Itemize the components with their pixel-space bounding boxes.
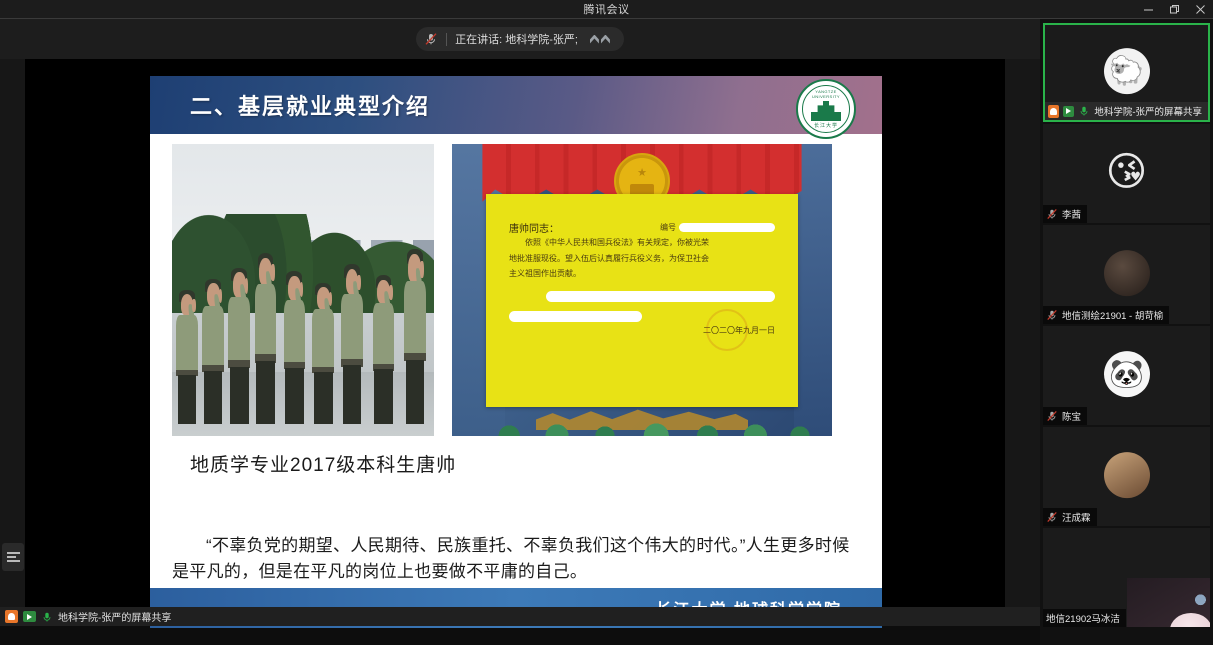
seal-arc-text: YANGTZE UNIVERSITY [803, 89, 849, 99]
participant-tile-6[interactable]: ♥ 地信21902马冰洁 [1043, 528, 1210, 627]
cert-redaction-number [679, 223, 775, 232]
restore-icon [1169, 4, 1180, 15]
app-title: 腾讯会议 [584, 1, 630, 17]
cert-paper: 唐帅同志： 编号 依照《中华人民共和国兵役法》有关规定，你被光荣 地批准服现役。… [486, 194, 798, 407]
mic-muted-icon [1046, 511, 1058, 523]
mic-muted-icon [1046, 309, 1058, 321]
tile-label: 汪成霖 [1043, 508, 1097, 526]
double-chevron-icon[interactable] [590, 35, 610, 44]
cert-body-line-2: 地批准服现役。望入伍后认真履行兵役义务，为保卫社会 [509, 251, 775, 266]
kiss-emoji-avatar: 😘 [1104, 149, 1150, 195]
cert-redaction-2 [509, 311, 642, 322]
host-icon [1048, 105, 1059, 118]
participant-tile-screen-share[interactable]: 🐑 地科学院-张严的屏幕共享 [1043, 23, 1210, 122]
cert-pine-motif [475, 389, 817, 436]
photo-avatar [1104, 250, 1150, 296]
restore-button[interactable] [1161, 0, 1187, 19]
cert-body-line-1: 依照《中华人民共和国兵役法》有关规定，你被光荣 [509, 235, 775, 250]
participant-name: 地信21902马冰洁 [1046, 611, 1120, 625]
sheep-avatar: 🐑 [1104, 48, 1150, 94]
slide-frame: 二、基层就业典型介绍 YANGTZE UNIVERSITY 长江大学 [25, 59, 1005, 611]
bottom-taskbar: 地科学院-张严的屏幕共享 [0, 607, 1040, 626]
slide-header: 二、基层就业典型介绍 YANGTZE UNIVERSITY 长江大学 [150, 76, 882, 134]
minimize-button[interactable] [1135, 0, 1161, 19]
enlistment-certificate-photo: ★ 唐帅同志： 编号 依照《中华人民共和国兵役法》有关规定，你被光荣 [452, 144, 832, 436]
tile-label: 地科学院-张严的屏幕共享 [1045, 102, 1208, 120]
mic-on-icon [1078, 105, 1090, 117]
slide-caption: 地质学专业2017级本科生唐帅 [172, 450, 860, 477]
cert-redaction-1 [546, 291, 775, 302]
university-seal-logo: YANGTZE UNIVERSITY 长江大学 [796, 79, 856, 139]
cert-body-line-3: 主义祖国作出贡献。 [509, 266, 775, 281]
pill-divider [446, 33, 447, 46]
participant-name: 陈宝 [1062, 409, 1081, 423]
cert-salutation: 唐帅同志： [509, 220, 559, 235]
cert-number-label: 编号 [660, 220, 676, 235]
photo-soldier-rank [172, 243, 434, 424]
panel-list-icon[interactable] [2, 543, 24, 571]
mic-muted-icon [1046, 208, 1058, 220]
window-title-bar: 腾讯会议 [0, 0, 1213, 19]
minimize-icon [1143, 4, 1154, 15]
participant-tile-2[interactable]: 😘 李茜 [1043, 124, 1210, 223]
stage-top-bar: 正在讲话: 地科学院-张严; [0, 19, 1040, 59]
shared-screen-stage: 正在讲话: 地科学院-张严; 二、基层就业典型介绍 YANGTZE UNIVER… [0, 19, 1040, 626]
taskbar-label: 地科学院-张严的屏幕共享 [58, 609, 171, 624]
participant-name: 李茜 [1062, 207, 1081, 221]
host-icon [5, 610, 18, 623]
participant-tile-5[interactable]: 汪成霖 [1043, 427, 1210, 526]
participant-name: 地信测绘21901 - 胡苛榆 [1062, 308, 1163, 322]
slide-title: 二、基层就业典型介绍 [190, 89, 430, 121]
window-controls [1135, 0, 1213, 19]
person-photo-avatar [1104, 452, 1150, 498]
screen-share-icon [1063, 106, 1074, 117]
participant-name: 地科学院-张严的屏幕共享 [1094, 104, 1202, 118]
mic-muted-icon [1046, 410, 1058, 422]
tile-label: 地信21902马冰洁 [1043, 609, 1126, 627]
bokeh-cat-avatar: ♥ [1127, 578, 1211, 628]
mic-muted-icon [424, 32, 438, 46]
tile-label: 李茜 [1043, 205, 1087, 223]
slide-body: ★ 唐帅同志： 编号 依照《中华人民共和国兵役法》有关规定，你被光荣 [150, 134, 882, 628]
participant-tile-4[interactable]: 🐼 陈宝 [1043, 326, 1210, 425]
tile-label: 地信测绘21901 - 胡苛榆 [1043, 306, 1169, 324]
presentation-slide: 二、基层就业典型介绍 YANGTZE UNIVERSITY 长江大学 [150, 76, 882, 628]
list-bars [7, 550, 20, 564]
speaking-label: 正在讲话: 地科学院-张严; [455, 31, 578, 47]
soldiers-saluting-photo [172, 144, 434, 436]
active-speaker-indicator[interactable]: 正在讲话: 地科学院-张严; [416, 27, 624, 51]
tile-label: 陈宝 [1043, 407, 1087, 425]
panda-avatar: 🐼 [1104, 351, 1150, 397]
slide-media-row: ★ 唐帅同志： 编号 依照《中华人民共和国兵役法》有关规定，你被光荣 [172, 144, 860, 436]
cat-shape [1170, 613, 1210, 627]
seal-building-icon [811, 101, 841, 121]
close-icon [1195, 4, 1206, 15]
screen-share-icon [23, 611, 36, 622]
participant-strip[interactable]: 🐑 地科学院-张严的屏幕共享 😘 李茜 [1040, 19, 1213, 645]
close-button[interactable] [1187, 0, 1213, 19]
participant-name: 汪成霖 [1062, 510, 1091, 524]
cert-red-stamp-icon [706, 309, 748, 351]
seal-cn-text: 长江大学 [803, 122, 849, 129]
mic-on-icon [41, 611, 53, 623]
slide-quote: “不辜负党的期望、人民期待、民族重托、不辜负我们这个伟大的时代。”人生更多时候是… [172, 533, 860, 584]
participant-tile-3[interactable]: 地信测绘21901 - 胡苛榆 [1043, 225, 1210, 324]
